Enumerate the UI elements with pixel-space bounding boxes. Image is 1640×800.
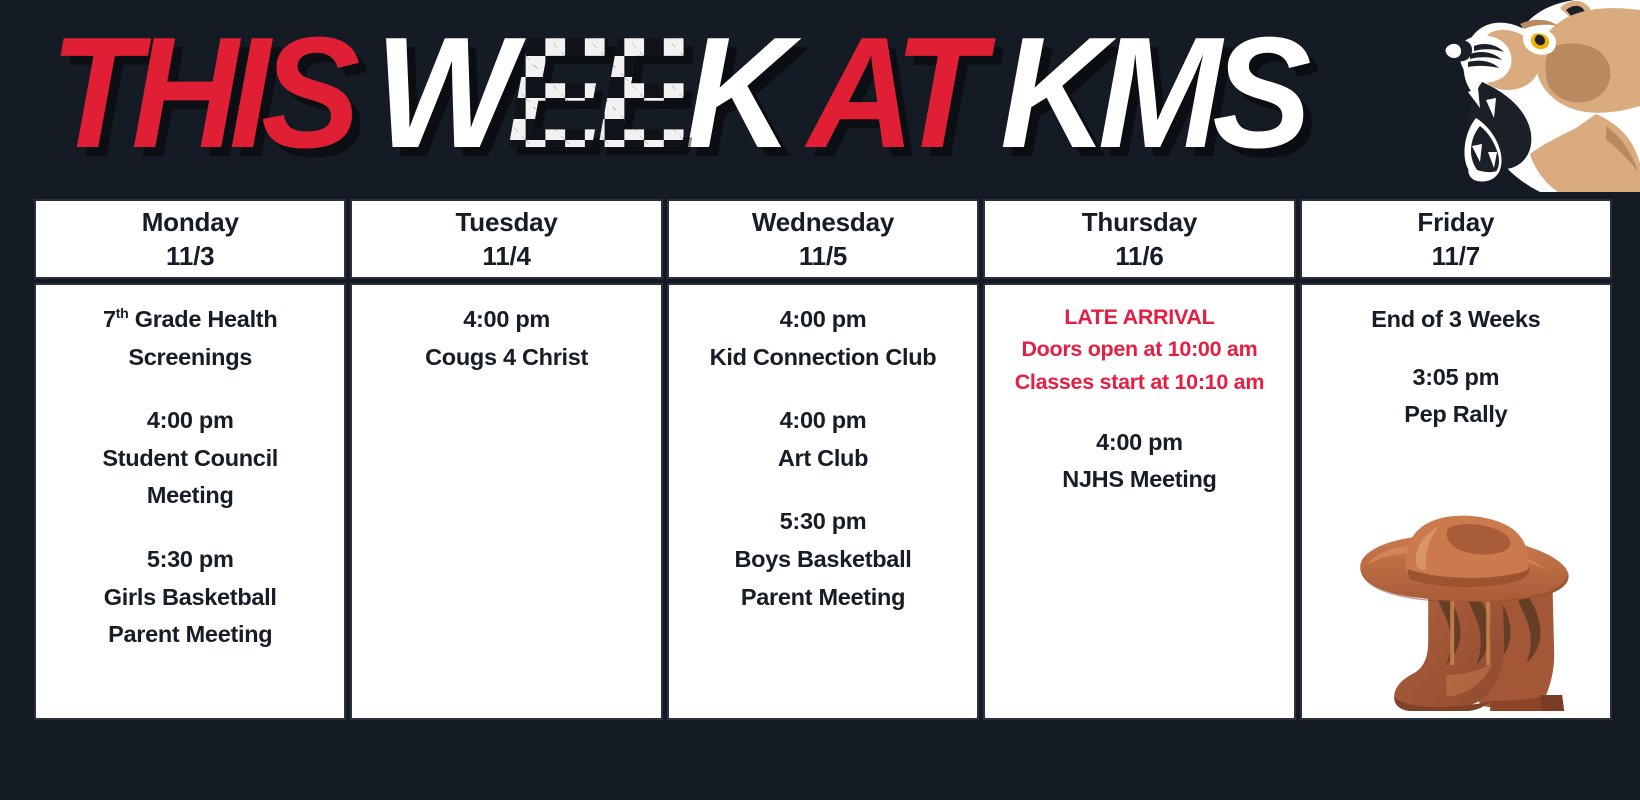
- day-events-thursday: LATE ARRIVAL Doors open at 10:00 am Clas…: [983, 283, 1295, 720]
- day-name: Tuesday: [456, 205, 558, 239]
- event-block: 4:00 pm NJHS Meeting: [991, 424, 1287, 499]
- event-line: Screenings: [42, 339, 338, 377]
- spacer: [42, 515, 338, 541]
- day-date: 11/3: [166, 239, 214, 273]
- day-column-friday: Friday 11/7 End of 3 Weeks 3:05 pm Pep R…: [1300, 199, 1612, 720]
- event-line: 4:00 pm: [42, 402, 338, 440]
- day-events-monday: 7th Grade Health Screenings 4:00 pm Stud…: [34, 283, 346, 720]
- title-word-this: THIS: [50, 14, 351, 172]
- event-line: Art Club: [675, 440, 971, 478]
- event-line: Student Council: [42, 440, 338, 478]
- day-events-wednesday: 4:00 pm Kid Connection Club 4:00 pm Art …: [667, 283, 979, 720]
- event-line: Boys Basketball: [675, 541, 971, 579]
- day-date: 11/7: [1432, 239, 1480, 273]
- event-line: Girls Basketball: [42, 579, 338, 617]
- event-block: 4:00 pm Art Club: [675, 402, 971, 477]
- day-name: Wednesday: [752, 205, 894, 239]
- event-line: 5:30 pm: [42, 541, 338, 579]
- title-letter-k: K: [685, 14, 783, 172]
- page-title: THIS W EE K AT KMS: [50, 8, 1302, 178]
- event-line: Meeting: [42, 477, 338, 515]
- event-line: 4:00 pm: [675, 301, 971, 339]
- event-line: 7th Grade Health: [42, 301, 338, 339]
- event-block: 5:30 pm Boys Basketball Parent Meeting: [675, 503, 971, 616]
- spacer: [675, 376, 971, 402]
- event-block: 5:30 pm Girls Basketball Parent Meeting: [42, 541, 338, 654]
- cowboy-boots-hat-illustration: [1350, 515, 1580, 740]
- title-word-kms: KMS: [1000, 14, 1302, 172]
- event-line: End of 3 Weeks: [1308, 301, 1604, 339]
- ordinal-suffix: th: [116, 305, 129, 321]
- event-line: Doors open at 10:00 am: [991, 333, 1287, 365]
- day-column-tuesday: Tuesday 11/4 4:00 pm Cougs 4 Christ: [350, 199, 662, 720]
- weekly-calendar-table: Monday 11/3 7th Grade Health Screenings …: [34, 199, 1612, 720]
- day-events-friday: End of 3 Weeks 3:05 pm Pep Rally: [1300, 283, 1612, 720]
- event-line: Parent Meeting: [42, 616, 338, 654]
- day-name: Monday: [142, 205, 239, 239]
- event-line: 4:00 pm: [991, 424, 1287, 462]
- event-line: Classes start at 10:10 am: [991, 366, 1287, 398]
- event-block: 4:00 pm Kid Connection Club: [675, 301, 971, 376]
- day-header-wednesday: Wednesday 11/5: [667, 199, 979, 279]
- banner-header: THIS W EE K AT KMS: [0, 0, 1640, 196]
- event-block: 3:05 pm Pep Rally: [1308, 359, 1604, 434]
- spacer: [1308, 339, 1604, 359]
- day-header-friday: Friday 11/7: [1300, 199, 1612, 279]
- day-column-wednesday: Wednesday 11/5 4:00 pm Kid Connection Cl…: [667, 199, 979, 720]
- day-column-monday: Monday 11/3 7th Grade Health Screenings …: [34, 199, 346, 720]
- event-block-late-arrival: LATE ARRIVAL Doors open at 10:00 am Clas…: [991, 301, 1287, 398]
- event-block: 7th Grade Health Screenings: [42, 301, 338, 376]
- spacer: [991, 398, 1287, 424]
- event-line: 3:05 pm: [1308, 359, 1604, 397]
- this-week-at-kms-poster: THIS W EE K AT KMS: [0, 0, 1640, 800]
- day-header-tuesday: Tuesday 11/4: [350, 199, 662, 279]
- event-block: End of 3 Weeks: [1308, 301, 1604, 339]
- day-events-tuesday: 4:00 pm Cougs 4 Christ: [350, 283, 662, 720]
- event-line: 4:00 pm: [675, 402, 971, 440]
- event-block: 4:00 pm Student Council Meeting: [42, 402, 338, 515]
- event-line: LATE ARRIVAL: [991, 301, 1287, 333]
- day-name: Friday: [1417, 205, 1494, 239]
- day-header-monday: Monday 11/3: [34, 199, 346, 279]
- day-date: 11/5: [799, 239, 847, 273]
- spacer: [675, 477, 971, 503]
- event-line: Kid Connection Club: [675, 339, 971, 377]
- event-line: 5:30 pm: [675, 503, 971, 541]
- event-line: NJHS Meeting: [991, 461, 1287, 499]
- day-column-thursday: Thursday 11/6 LATE ARRIVAL Doors open at…: [983, 199, 1295, 720]
- day-name: Thursday: [1082, 205, 1197, 239]
- day-date: 11/6: [1115, 239, 1163, 273]
- spacer: [42, 376, 338, 402]
- event-line: Cougs 4 Christ: [358, 339, 654, 377]
- day-date: 11/4: [482, 239, 530, 273]
- title-letter-w: W: [375, 14, 506, 172]
- day-header-thursday: Thursday 11/6: [983, 199, 1295, 279]
- event-line: 4:00 pm: [358, 301, 654, 339]
- event-line: Pep Rally: [1308, 396, 1604, 434]
- event-line: Parent Meeting: [675, 579, 971, 617]
- title-word-at: AT: [808, 14, 976, 172]
- cougar-mascot-icon: [1344, 0, 1640, 192]
- title-letters-ee-checkered: EE: [506, 14, 685, 172]
- event-block: 4:00 pm Cougs 4 Christ: [358, 301, 654, 376]
